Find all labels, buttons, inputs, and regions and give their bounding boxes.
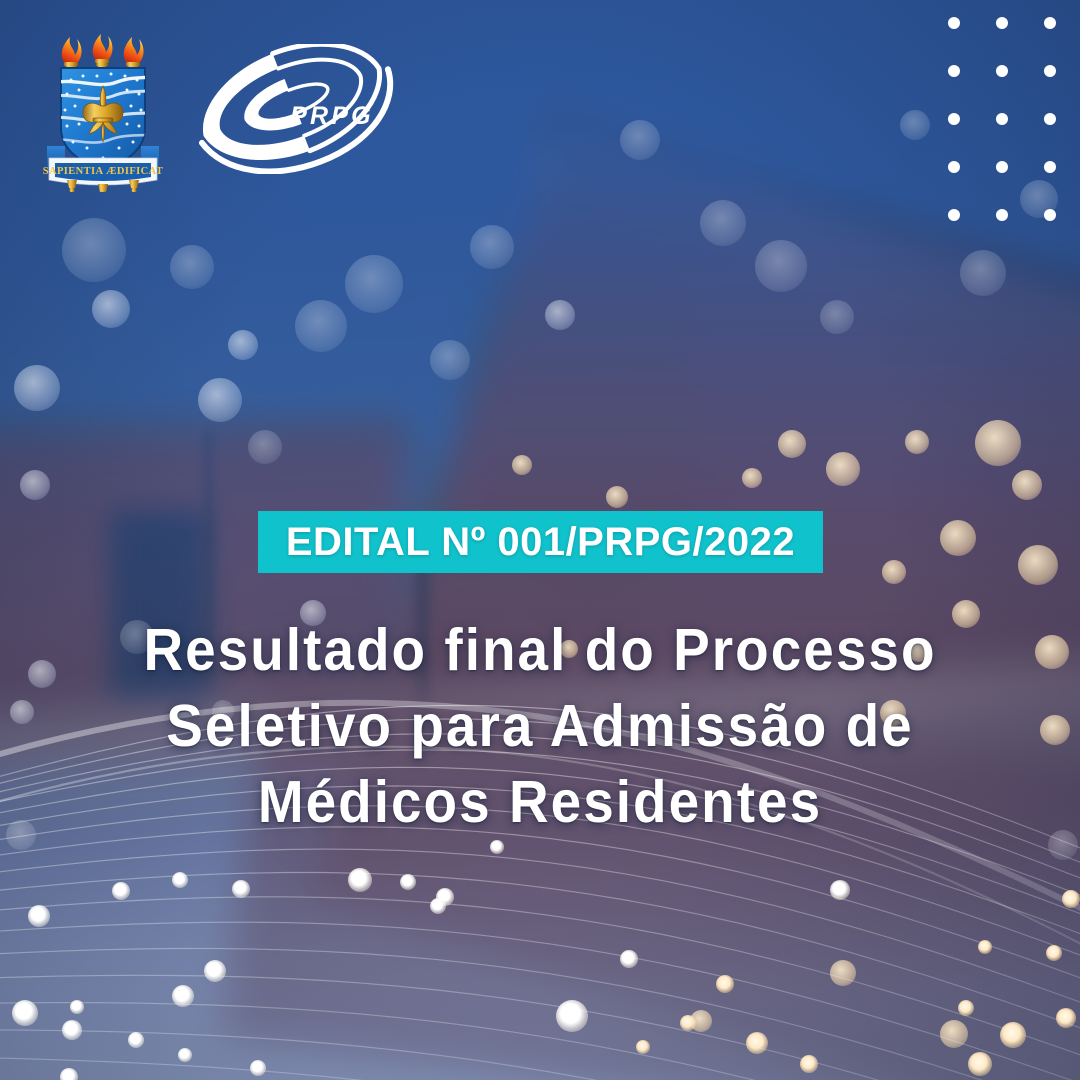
crest-motto: SAPIENTIA ÆDIFICAT (43, 166, 164, 177)
poster-canvas: SAPIENTIA ÆDIFICAT (0, 0, 1080, 1080)
grid-dot (996, 17, 1008, 29)
grid-dot (948, 17, 960, 29)
dot-grid-icon (948, 17, 1068, 222)
grid-dot (948, 161, 960, 173)
edital-banner: EDITAL Nº 001/PRPG/2022 (258, 511, 823, 573)
prpg-ellipse-logo-icon: PRPG (186, 44, 398, 174)
grid-dot (996, 161, 1008, 173)
headline-line-1: Resultado final do Processo (38, 612, 1042, 688)
grid-dot (948, 65, 960, 77)
grid-dot (1044, 161, 1056, 173)
grid-dot (1044, 17, 1056, 29)
grid-dot (996, 113, 1008, 125)
grid-dot (948, 209, 960, 221)
grid-dot (996, 65, 1008, 77)
headline-line-3: Médicos Residentes (38, 764, 1042, 840)
prpg-wordmark: PRPG (290, 102, 374, 130)
grid-dot (1044, 209, 1056, 221)
page-title: Resultado final do Processo Seletivo par… (38, 612, 1042, 840)
grid-dot (1044, 65, 1056, 77)
ufpb-coat-of-arms-icon: SAPIENTIA ÆDIFICAT (39, 24, 167, 192)
grid-dot (1044, 113, 1056, 125)
grid-dot (996, 209, 1008, 221)
edital-banner-label: EDITAL Nº 001/PRPG/2022 (286, 522, 795, 562)
grid-dot (948, 113, 960, 125)
headline-line-2: Seletivo para Admissão de (38, 688, 1042, 764)
